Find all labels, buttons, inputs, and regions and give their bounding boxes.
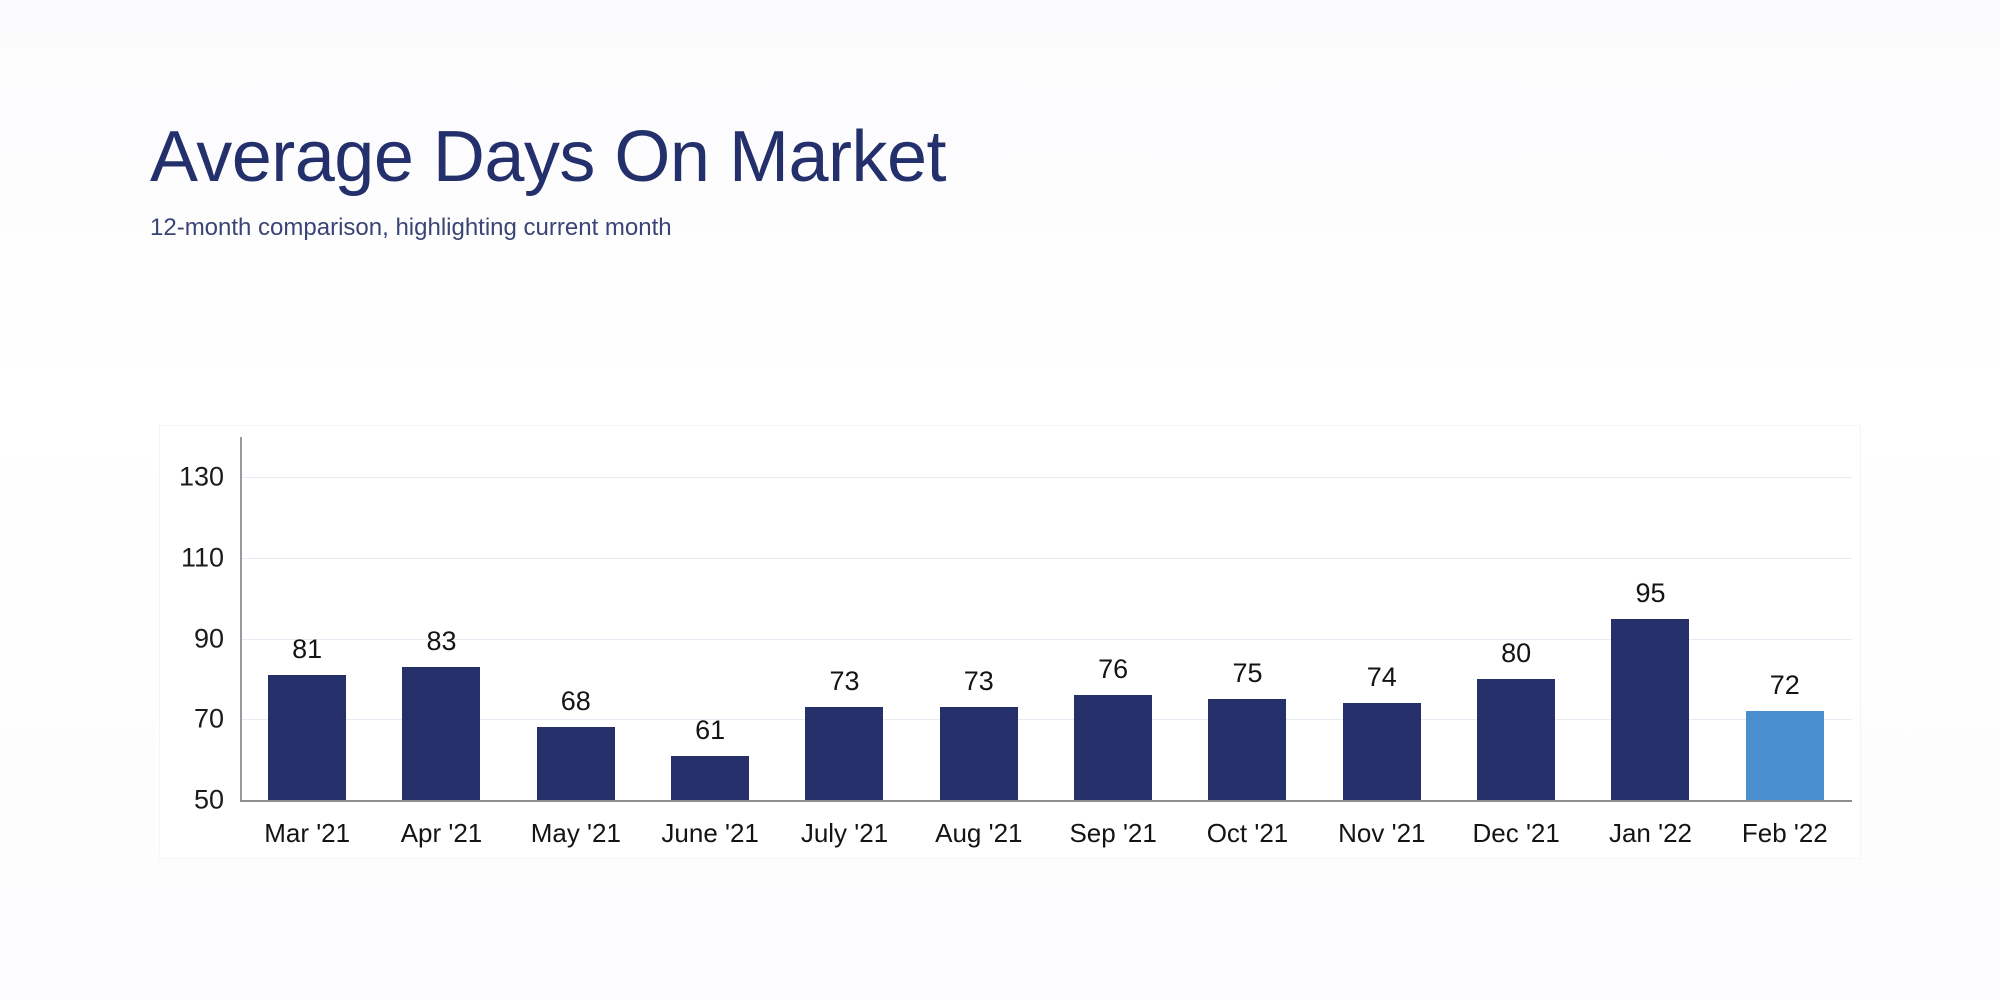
chart-header: Average Days On Market 12-month comparis… xyxy=(150,120,1550,242)
bar-value-label: 61 xyxy=(695,715,725,746)
bar-group[interactable]: 73Aug '21 xyxy=(912,437,1046,800)
x-axis-tick-label: Aug '21 xyxy=(935,818,1022,849)
x-axis-line xyxy=(240,800,1852,802)
bar[interactable]: 80 xyxy=(1477,679,1555,800)
bar-group[interactable]: 76Sep '21 xyxy=(1046,437,1180,800)
bar[interactable]: 73 xyxy=(805,707,883,800)
bar-highlighted[interactable]: 72 xyxy=(1746,711,1824,800)
y-axis-tick-label: 70 xyxy=(194,704,224,735)
bar-value-label: 76 xyxy=(1098,654,1128,685)
plot-area: 507090110130 81Mar '2183Apr '2168May '21… xyxy=(240,437,1852,800)
bar-value-label: 75 xyxy=(1232,658,1262,689)
bar-series: 81Mar '2183Apr '2168May '2161June '2173J… xyxy=(240,437,1852,800)
bar-value-label: 74 xyxy=(1367,662,1397,693)
x-axis-tick-label: Jan '22 xyxy=(1609,818,1692,849)
bar[interactable]: 83 xyxy=(402,667,480,800)
y-axis-tick-label: 130 xyxy=(179,462,224,493)
bar[interactable]: 73 xyxy=(940,707,1018,800)
bar-group[interactable]: 68May '21 xyxy=(509,437,643,800)
x-axis-tick-label: Mar '21 xyxy=(264,818,350,849)
bar-group[interactable]: 95Jan '22 xyxy=(1583,437,1717,800)
bar[interactable]: 61 xyxy=(671,756,749,800)
bar[interactable]: 75 xyxy=(1208,699,1286,800)
x-axis-tick-label: Dec '21 xyxy=(1472,818,1559,849)
x-axis-tick-label: Apr '21 xyxy=(401,818,483,849)
x-axis-tick-label: Oct '21 xyxy=(1207,818,1289,849)
y-axis-tick-label: 90 xyxy=(194,623,224,654)
y-axis-tick-label: 110 xyxy=(181,543,224,574)
bar-group[interactable]: 83Apr '21 xyxy=(374,437,508,800)
bar[interactable]: 76 xyxy=(1074,695,1152,800)
bar-value-label: 81 xyxy=(292,634,322,665)
bar-value-label: 83 xyxy=(426,626,456,657)
bar-value-label: 73 xyxy=(829,666,859,697)
bar-group[interactable]: 80Dec '21 xyxy=(1449,437,1583,800)
bar-group[interactable]: 75Oct '21 xyxy=(1180,437,1314,800)
bar-value-label: 80 xyxy=(1501,638,1531,669)
bar-group[interactable]: 74Nov '21 xyxy=(1315,437,1449,800)
page-title: Average Days On Market xyxy=(150,120,1550,196)
chart-panel: 507090110130 81Mar '2183Apr '2168May '21… xyxy=(160,426,1860,858)
x-axis-tick-label: May '21 xyxy=(531,818,621,849)
chart-subtitle: 12-month comparison, highlighting curren… xyxy=(150,214,1550,242)
bar-group[interactable]: 73July '21 xyxy=(777,437,911,800)
x-axis-tick-label: Feb '22 xyxy=(1742,818,1828,849)
x-axis-tick-label: June '21 xyxy=(661,818,759,849)
bar-value-label: 95 xyxy=(1635,578,1665,609)
bar[interactable]: 81 xyxy=(268,675,346,800)
x-axis-tick-label: July '21 xyxy=(801,818,888,849)
bar-group[interactable]: 81Mar '21 xyxy=(240,437,374,800)
x-axis-tick-label: Nov '21 xyxy=(1338,818,1425,849)
bar-value-label: 72 xyxy=(1770,670,1800,701)
bar[interactable]: 74 xyxy=(1343,703,1421,800)
bar[interactable]: 95 xyxy=(1611,619,1689,801)
bar-group[interactable]: 61June '21 xyxy=(643,437,777,800)
x-axis-tick-label: Sep '21 xyxy=(1069,818,1156,849)
bar-value-label: 73 xyxy=(964,666,994,697)
bar-value-label: 68 xyxy=(561,686,591,717)
bar[interactable]: 68 xyxy=(537,727,615,800)
y-axis-tick-label: 50 xyxy=(194,785,224,816)
bar-group[interactable]: 72Feb '22 xyxy=(1718,437,1852,800)
